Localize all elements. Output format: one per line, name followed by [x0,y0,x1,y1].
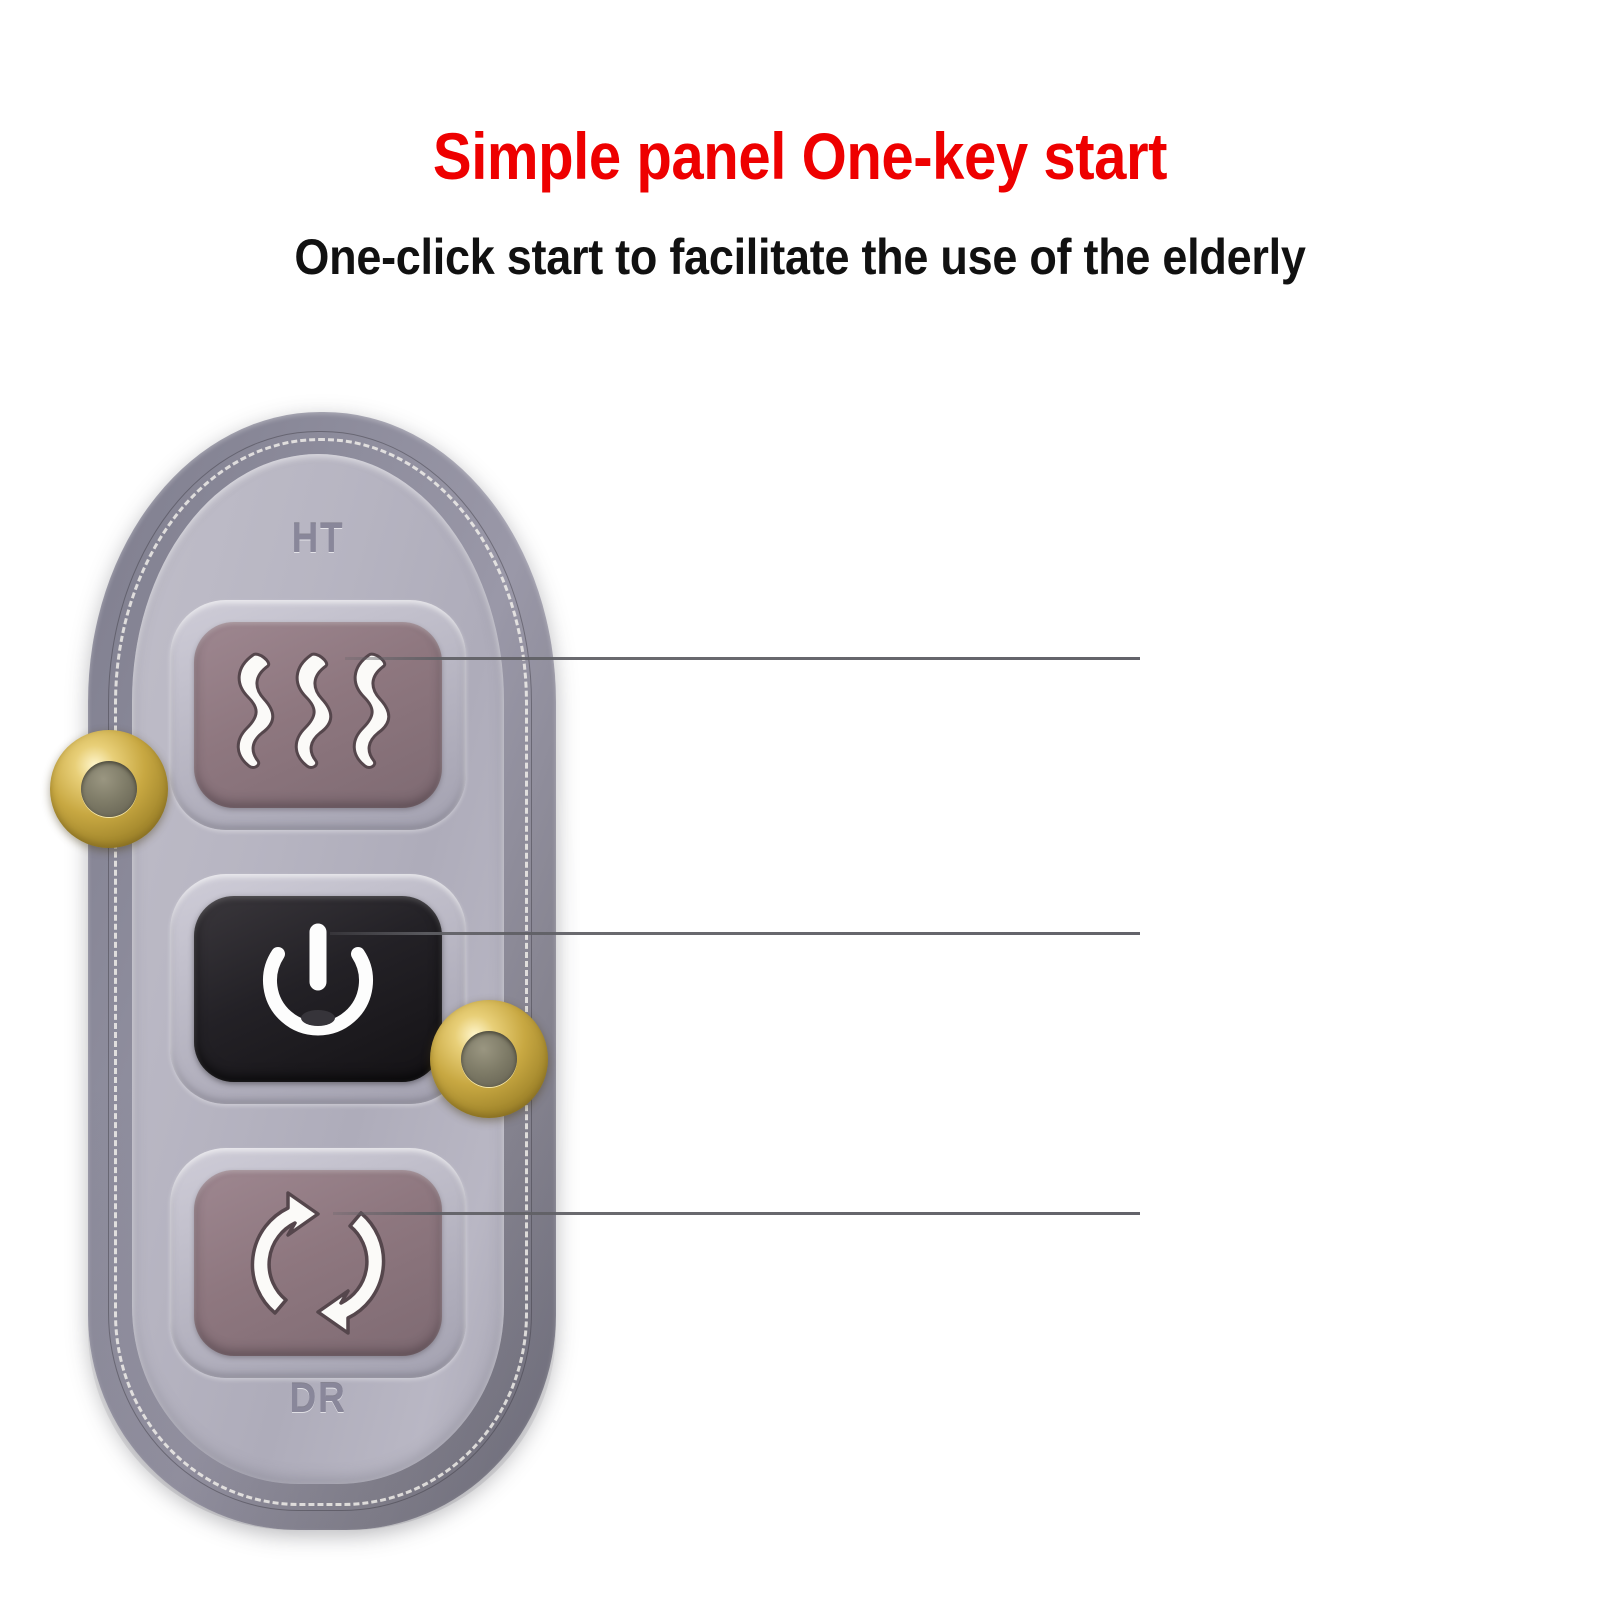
brass-rivet-right [430,1000,548,1118]
switch-key-well[interactable] [170,874,466,1104]
device-label-bottom: DR [154,1374,481,1422]
turn-key-well[interactable] [170,1148,466,1378]
thermostat-button[interactable] [194,622,442,808]
brass-rivet-left [50,730,168,848]
device-label-top: HT [154,514,481,562]
page-subtitle: One-click start to facilitate the use of… [80,228,1520,286]
page-title: Simple panel One-key start [96,118,1504,194]
rotate-arrows-icon [194,1170,442,1356]
infographic-canvas: Simple panel One-key start One-click sta… [0,0,1600,1600]
turn-button[interactable] [194,1170,442,1356]
device-control-panel: HT [132,454,504,1484]
power-icon [194,896,442,1082]
leader-line-switch [330,932,1140,935]
heat-waves-icon [194,622,442,808]
remote-device-illustration: HT [62,398,582,1548]
leader-line-thermostat [345,657,1140,660]
thermostat-key-well[interactable] [170,600,466,830]
leader-line-turn [333,1212,1140,1215]
switch-button[interactable] [194,896,442,1082]
